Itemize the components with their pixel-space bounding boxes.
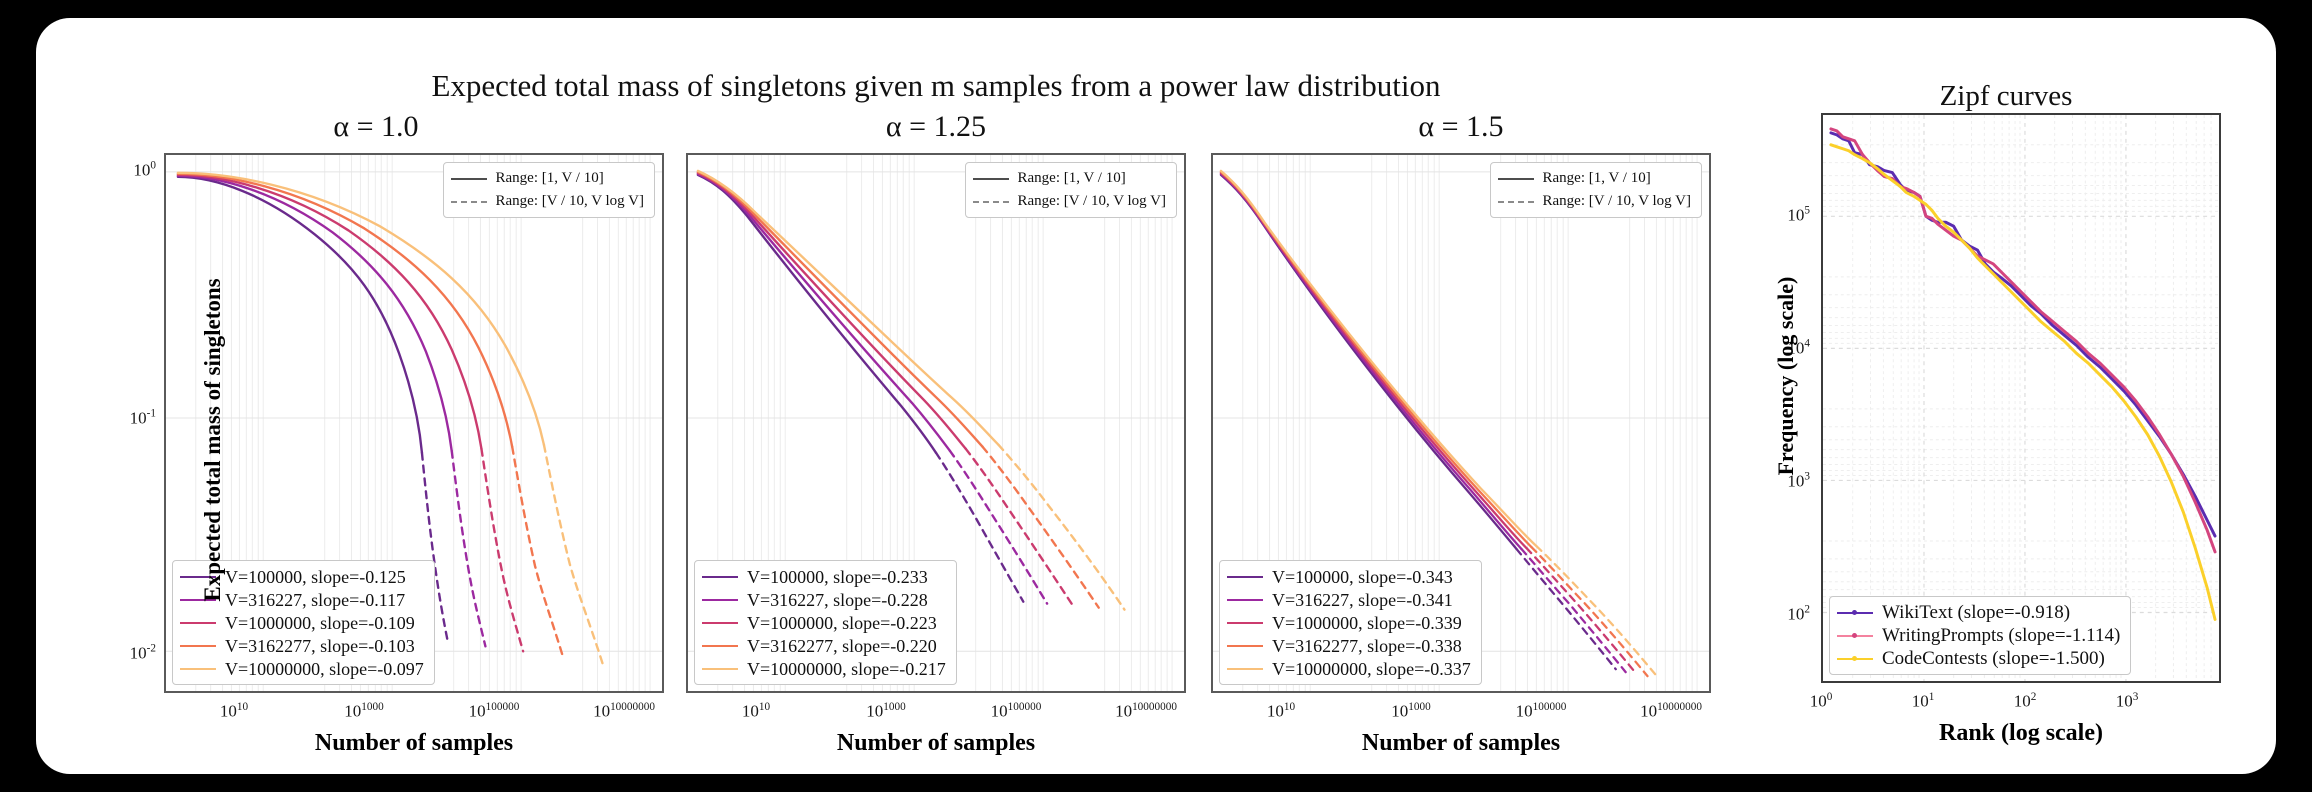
zipf-x-tick-label: 100 [1810, 691, 1833, 712]
legend-line-icon [702, 645, 738, 647]
x-tick-label: 10100000 [991, 701, 1042, 722]
x-tick-label: 1010 [1267, 701, 1295, 722]
y-tick-label: 10-1 [94, 408, 156, 429]
zipf-curves [1831, 129, 2215, 620]
legend-label: V=316227, slope=-0.228 [747, 591, 928, 609]
x-axis-label-alpha-1-25: Number of samples [686, 730, 1186, 757]
x-tick-label: 10100000 [1516, 701, 1567, 722]
range-legend-alpha-1-25: Range: [1, V / 10] Range: [V / 10, V log… [965, 162, 1177, 218]
legend-line-icon [1227, 668, 1263, 670]
legend-row: V=1000000, slope=-0.339 [1227, 612, 1471, 633]
panel-title-alpha-1-25: α = 1.25 [686, 110, 1186, 144]
legend-line-solid-icon [1498, 178, 1534, 180]
legend-row: Range: [V / 10, V log V] [451, 191, 644, 212]
legend-row: Range: [1, V / 10] [451, 168, 644, 189]
legend-line-dashed-icon [451, 201, 487, 203]
legend-label: Range: [V / 10, V log V] [496, 194, 644, 209]
panel-title-alpha-1: α = 1.0 [126, 110, 626, 144]
legend-row: V=10000000, slope=-0.217 [702, 658, 946, 679]
legend-label: V=3162277, slope=-0.220 [747, 637, 937, 655]
legend-line-dashed-icon [1498, 201, 1534, 203]
legend-line-icon [702, 668, 738, 670]
legend-line-icon [1227, 622, 1263, 624]
legend-label: V=1000000, slope=-0.223 [747, 614, 937, 632]
legend-label: WritingPrompts (slope=-1.114) [1882, 626, 2120, 645]
zipf-y-axis-label: Frequency (log scale) [1773, 186, 1799, 566]
legend-label: V=1000000, slope=-0.339 [1272, 614, 1462, 632]
legend-row: Range: [1, V / 10] [1498, 168, 1691, 189]
range-legend-alpha-1: Range: [1, V / 10] Range: [V / 10, V log… [443, 162, 655, 218]
legend-line-dashed-icon [973, 201, 1009, 203]
legend-row: Range: [1, V / 10] [973, 168, 1166, 189]
x-tick-label: 1010 [220, 701, 248, 722]
legend-label: Range: [1, V / 10] [1543, 171, 1651, 186]
legend-line-marker-icon [1837, 658, 1873, 660]
x-tick-label: 1010000000 [1640, 701, 1702, 722]
zipf-panel-title: Zipf curves [1796, 80, 2216, 113]
legend-label: V=10000000, slope=-0.217 [747, 660, 946, 678]
legend-line-icon [1227, 599, 1263, 601]
legend-label: WikiText (slope=-0.918) [1882, 603, 2070, 622]
legend-label: CodeContests (slope=-1.500) [1882, 649, 2105, 668]
legend-label: V=3162277, slope=-0.103 [225, 637, 415, 655]
legend-row: V=316227, slope=-0.341 [1227, 589, 1471, 610]
zipf-x-tick-label: 101 [1912, 691, 1935, 712]
x-tick-label: 101000 [866, 701, 905, 722]
panel-title-alpha-1-5: α = 1.5 [1211, 110, 1711, 144]
zipf-y-tick-label: 102 [1748, 604, 1810, 625]
legend-row: WikiText (slope=-0.918) [1837, 602, 2120, 623]
x-tick-label: 101000 [344, 701, 383, 722]
legend-label: V=10000000, slope=-0.097 [225, 660, 424, 678]
legend-label: Range: [V / 10, V log V] [1543, 194, 1691, 209]
legend-label: V=10000000, slope=-0.337 [1272, 660, 1471, 678]
legend-row: Range: [V / 10, V log V] [1498, 191, 1691, 212]
legend-label: Range: [1, V / 10] [1018, 171, 1126, 186]
legend-label: Range: [1, V / 10] [496, 171, 604, 186]
legend-row: V=10000000, slope=-0.337 [1227, 658, 1471, 679]
x-tick-label: 10100000 [469, 701, 520, 722]
x-tick-label: 1010 [742, 701, 770, 722]
x-tick-label: 1010000000 [593, 701, 655, 722]
x-axis-label-alpha-1: Number of samples [164, 730, 664, 757]
legend-label: V=316227, slope=-0.117 [225, 591, 405, 609]
zipf-x-tick-label: 103 [2116, 691, 2139, 712]
legend-line-solid-icon [973, 178, 1009, 180]
legend-label: V=316227, slope=-0.341 [1272, 591, 1453, 609]
x-tick-label: 1010000000 [1115, 701, 1177, 722]
legend-row: V=3162277, slope=-0.338 [1227, 635, 1471, 656]
legend-label: V=3162277, slope=-0.338 [1272, 637, 1462, 655]
y-axis-label-mass: Expected total mass of singletons [200, 205, 226, 675]
zipf-x-axis-label: Rank (log scale) [1821, 720, 2221, 747]
legend-line-icon [1227, 645, 1263, 647]
figure-suptitle: Expected total mass of singletons given … [126, 68, 1746, 104]
plot-axes-alpha-1-5: Range: [1, V / 10] Range: [V / 10, V log… [1211, 153, 1711, 693]
range-legend-alpha-1-5: Range: [1, V / 10] Range: [V / 10, V log… [1490, 162, 1702, 218]
plot-axes-zipf: WikiText (slope=-0.918) WritingPrompts (… [1821, 113, 2221, 683]
legend-label: V=1000000, slope=-0.109 [225, 614, 415, 632]
legend-row: V=316227, slope=-0.228 [702, 589, 946, 610]
legend-row: V=100000, slope=-0.233 [702, 566, 946, 587]
series-legend-alpha-1-25: V=100000, slope=-0.233 V=316227, slope=-… [694, 560, 957, 685]
legend-line-marker-icon [1837, 635, 1873, 637]
legend-row: V=100000, slope=-0.343 [1227, 566, 1471, 587]
legend-label: V=100000, slope=-0.233 [747, 568, 928, 586]
legend-row: Range: [V / 10, V log V] [973, 191, 1166, 212]
legend-line-solid-icon [451, 178, 487, 180]
legend-label: V=100000, slope=-0.125 [225, 568, 406, 586]
x-tick-label: 101000 [1391, 701, 1430, 722]
legend-line-icon [702, 599, 738, 601]
legend-line-icon [702, 622, 738, 624]
legend-line-icon [702, 576, 738, 578]
zipf-x-tick-label: 102 [2014, 691, 2037, 712]
legend-row: WritingPrompts (slope=-1.114) [1837, 625, 2120, 646]
legend-label: V=100000, slope=-0.343 [1272, 568, 1453, 586]
legend-row: CodeContests (slope=-1.500) [1837, 648, 2120, 669]
zipf-series-legend: WikiText (slope=-0.918) WritingPrompts (… [1829, 596, 2131, 675]
legend-line-icon [1227, 576, 1263, 578]
legend-label: Range: [V / 10, V log V] [1018, 194, 1166, 209]
plot-axes-alpha-1: Range: [1, V / 10] Range: [V / 10, V log… [164, 153, 664, 693]
series-legend-alpha-1-5: V=100000, slope=-0.343 V=316227, slope=-… [1219, 560, 1482, 685]
legend-row: V=1000000, slope=-0.223 [702, 612, 946, 633]
plot-axes-alpha-1-25: Range: [1, V / 10] Range: [V / 10, V log… [686, 153, 1186, 693]
y-tick-label: 100 [94, 160, 156, 181]
figure-card: Expected total mass of singletons given … [36, 18, 2276, 774]
legend-line-marker-icon [1837, 612, 1873, 614]
x-axis-label-alpha-1-5: Number of samples [1211, 730, 1711, 757]
legend-row: V=3162277, slope=-0.220 [702, 635, 946, 656]
y-tick-label: 10-2 [94, 643, 156, 664]
